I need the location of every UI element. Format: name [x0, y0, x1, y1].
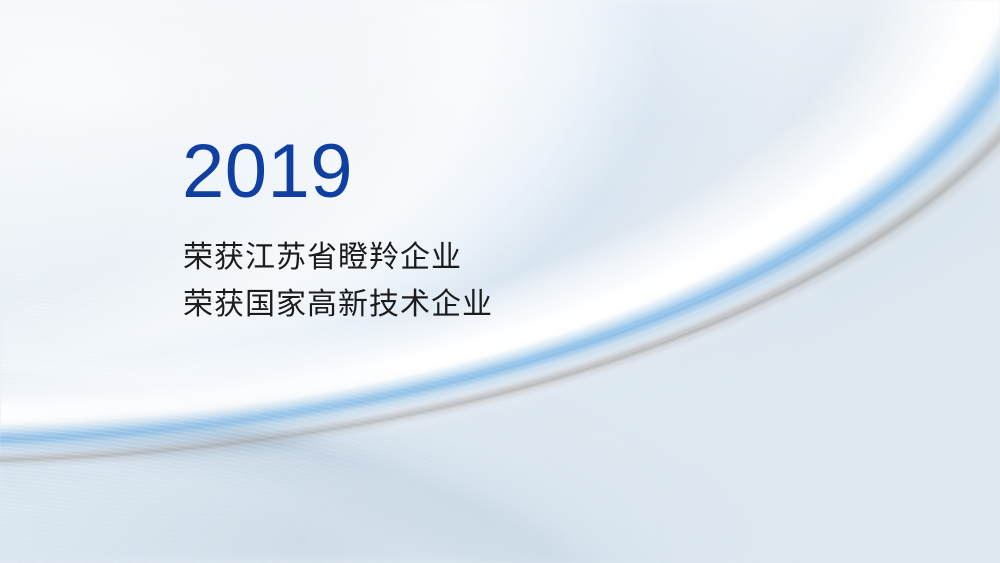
- text-block: 2019 荣获江苏省瞪羚企业 荣获国家高新技术企业: [182, 132, 742, 328]
- achievement-list: 荣获江苏省瞪羚企业 荣获国家高新技术企业: [183, 234, 742, 328]
- slide-canvas: 2019 荣获江苏省瞪羚企业 荣获国家高新技术企业: [0, 0, 1000, 563]
- achievement-item-1: 荣获江苏省瞪羚企业: [183, 234, 742, 281]
- achievement-item-2: 荣获国家高新技术企业: [183, 281, 742, 328]
- year-heading: 2019: [182, 132, 742, 212]
